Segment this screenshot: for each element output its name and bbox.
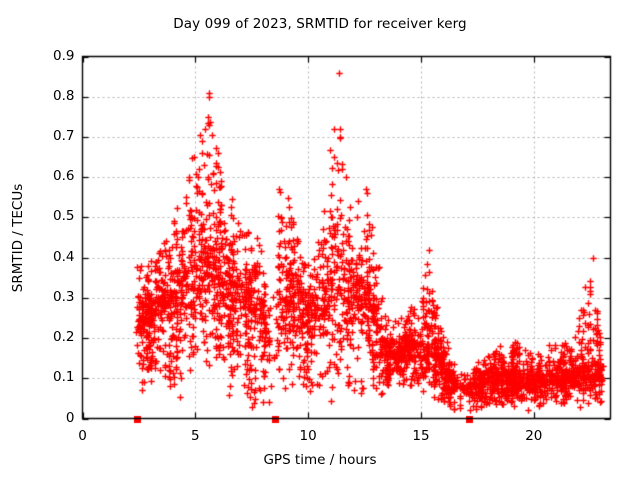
x-tick-label: 0 xyxy=(53,428,113,444)
y-tick-label: 0.1 xyxy=(11,369,75,385)
y-tick-label: 0.8 xyxy=(11,88,75,104)
y-tick-label: 0 xyxy=(11,410,75,426)
x-tick-label: 5 xyxy=(165,428,225,444)
y-tick-label: 0.9 xyxy=(11,48,75,64)
y-tick-label: 0.3 xyxy=(11,289,75,305)
y-tick-label: 0.2 xyxy=(11,329,75,345)
x-tick-label: 20 xyxy=(504,428,564,444)
x-tick-label: 10 xyxy=(278,428,338,444)
y-tick-label: 0.6 xyxy=(11,168,75,184)
y-tick-label: 0.5 xyxy=(11,208,75,224)
y-tick-label: 0.4 xyxy=(11,249,75,265)
scatter-plot-canvas xyxy=(0,0,640,480)
x-tick-label: 15 xyxy=(391,428,451,444)
y-tick-label: 0.7 xyxy=(11,128,75,144)
x-axis-label: GPS time / hours xyxy=(0,452,640,468)
plot-root: Day 099 of 2023, SRMTID for receiver ker… xyxy=(0,0,640,480)
